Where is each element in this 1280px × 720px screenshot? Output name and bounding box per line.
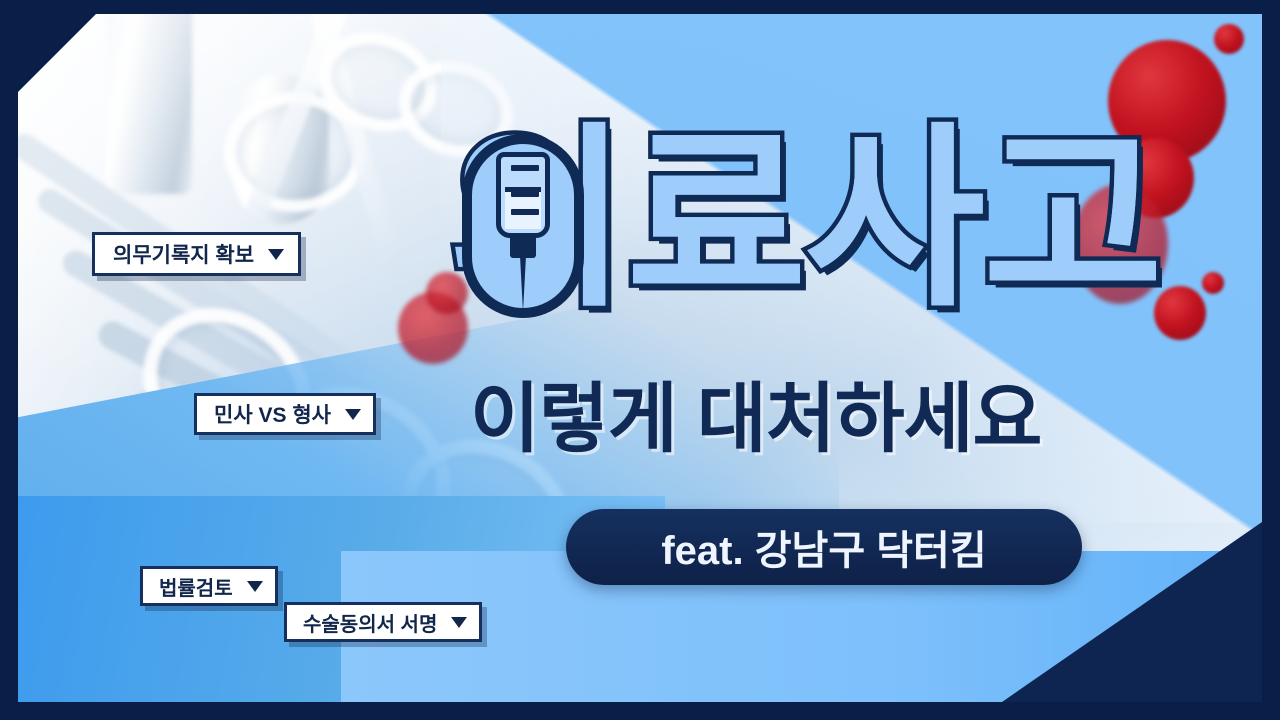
blood-drop-dot <box>1202 272 1224 294</box>
feat-pill: feat. 강남구 닥터킴 <box>566 509 1082 585</box>
chevron-down-icon <box>451 617 467 628</box>
blood-drop-small <box>1214 24 1244 54</box>
chip-label: 민사 VS 형사 <box>214 399 331 429</box>
chip-civil-vs-criminal[interactable]: 민사 VS 형사 <box>194 393 376 435</box>
chip-label: 법률검토 <box>159 572 233 601</box>
chip-label: 수술동의서 서명 <box>303 608 437 637</box>
chevron-down-icon <box>247 581 263 592</box>
syringe-graduation <box>511 165 539 171</box>
syringe-icon <box>462 134 584 318</box>
chip-medical-records[interactable]: 의무기록지 확보 <box>92 232 301 276</box>
artwork-stage: 의료사고 의료사고 이렇게 대처하세요 feat. 강남구 닥터킴 의무기록지 … <box>18 14 1262 702</box>
syringe-needle <box>520 256 526 312</box>
feat-label: feat. 강남구 닥터킴 <box>661 518 986 576</box>
chip-legal-review[interactable]: 법률검토 <box>140 566 278 606</box>
chevron-down-icon <box>345 409 361 420</box>
syringe-hub <box>510 236 536 258</box>
syringe-barrel <box>496 152 550 238</box>
headline-group: 의료사고 의료사고 <box>448 122 1188 337</box>
subtitle: 이렇게 대처하세요 <box>470 377 1200 463</box>
chip-surgery-consent[interactable]: 수술동의서 서명 <box>284 602 482 642</box>
chip-label: 의무기록지 확보 <box>113 239 254 269</box>
thumbnail-canvas: 의료사고 의료사고 이렇게 대처하세요 feat. 강남구 닥터킴 의무기록지 … <box>0 0 1280 720</box>
syringe-graduation <box>511 209 539 215</box>
chevron-down-icon <box>268 249 284 260</box>
syringe-graduation <box>511 191 539 197</box>
